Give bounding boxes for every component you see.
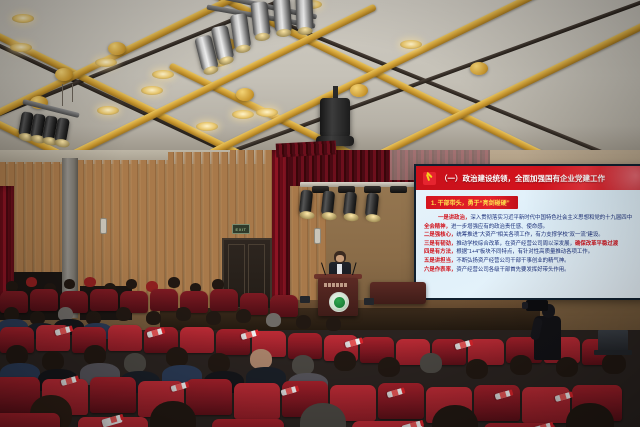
theater-seat (30, 289, 58, 311)
stage-spotlight (343, 191, 357, 216)
stage-spotlight (295, 0, 313, 30)
audience-head (510, 355, 532, 375)
audience-head (420, 353, 442, 373)
audience-head (126, 279, 137, 289)
laptop-base[interactable] (594, 350, 632, 355)
stage-spotlight (365, 192, 379, 217)
recessed-downlight (10, 43, 32, 52)
stage-light-fixture (364, 186, 381, 193)
slide-subtitle: 1. 干部带头，勇于“亮剑碰硬” (431, 198, 510, 207)
audience-head (26, 277, 37, 287)
slide-title-bar: （一）政治建设统领，全面加强国有企业党建工作 (416, 166, 640, 190)
audience-head (146, 311, 161, 325)
recessed-downlight (256, 108, 278, 117)
slide-line: 一是讲政治，深入贯彻落实习近平新时代中国特色社会主义思想和党的十九届四中 (424, 214, 640, 223)
audience-head (6, 345, 28, 365)
audience-head (602, 353, 626, 374)
audience-head (296, 315, 311, 329)
audience-head (84, 345, 106, 365)
laptop-screen[interactable] (598, 330, 628, 352)
audience-head (292, 355, 314, 375)
recessed-downlight (196, 122, 218, 131)
slide-line-text: 深入贯彻落实习近平新时代中国特色社会主义思想和党的十九届四中 (470, 215, 632, 221)
stage-spotlight (321, 190, 335, 215)
stage-spotlight (273, 0, 292, 33)
slide-line-lead: 一是讲政治， (438, 215, 470, 221)
theater-seat (108, 325, 142, 351)
audience-head (42, 351, 64, 371)
theater-seat (474, 385, 520, 421)
recessed-downlight (141, 86, 163, 95)
theater-seat-foreground (0, 413, 60, 427)
audience-head (378, 357, 400, 377)
stage-spotlight (230, 13, 252, 49)
recessed-downlight (97, 106, 119, 115)
theater-seat (150, 289, 178, 311)
audience-head (250, 349, 272, 369)
theater-seat-foreground (212, 419, 284, 427)
audience-head (206, 311, 221, 325)
theater-seat (90, 289, 118, 311)
audience-head (236, 309, 251, 323)
recessed-downlight (400, 40, 422, 49)
video-camera (526, 300, 548, 311)
theater-seat (210, 289, 238, 311)
ceiling-projector (320, 98, 350, 138)
audience-head (326, 317, 341, 331)
audience-head (176, 307, 191, 321)
stage-spotlight (299, 189, 313, 214)
theater-seat (90, 377, 136, 413)
theater-seat (234, 383, 280, 419)
audience-head (116, 307, 131, 321)
stage-spotlight (54, 117, 70, 143)
recessed-downlight (12, 14, 34, 23)
stage-light-fixture (390, 186, 407, 193)
auditorium-scene: EXIT （一）政治建设统领，全面加强国有企业党建工作 1. 干部带头，勇于“亮 (0, 0, 640, 427)
audience-head (124, 353, 146, 373)
audience-head (166, 347, 188, 367)
recessed-downlight (152, 70, 174, 79)
audience-head (266, 313, 281, 327)
audience-head (334, 351, 356, 371)
recessed-downlight (95, 58, 117, 67)
party-emblem-icon (423, 172, 436, 185)
slide-subtitle-bar: 1. 干部带头，勇于“亮剑碰硬” (426, 196, 518, 209)
audience-head (84, 277, 96, 287)
audience-head (168, 277, 180, 288)
audience-head (208, 353, 230, 373)
recessed-downlight (232, 110, 254, 119)
audience-head (466, 359, 488, 379)
stage-spotlight (250, 1, 270, 37)
audience-head (556, 357, 578, 377)
audience-head (64, 279, 75, 289)
theater-seat (522, 387, 570, 423)
slide-title: （一）政治建设统领，全面加强国有企业党建工作 (440, 173, 605, 184)
